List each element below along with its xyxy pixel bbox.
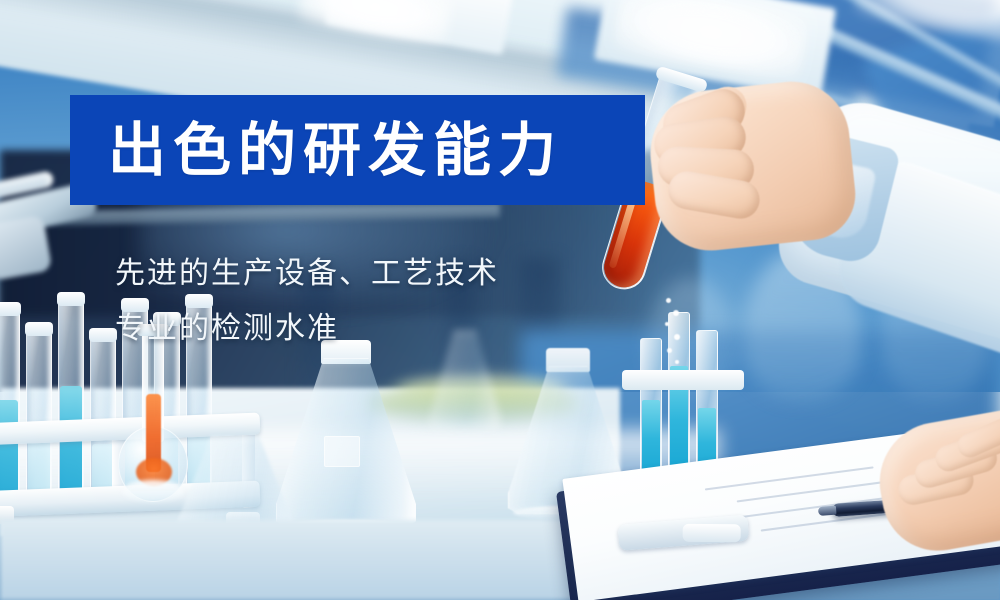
page-title: 出色的研发能力 — [70, 121, 563, 179]
subtitle-block: 先进的生产设备、工艺技术 专业的检测水准 — [115, 246, 675, 356]
subtitle-line-2: 专业的检测水准 — [115, 301, 675, 356]
desk-front-edge-left — [0, 520, 600, 600]
subtitle-line-1: 先进的生产设备、工艺技术 — [115, 246, 675, 301]
headline-band: 出色的研发能力 — [70, 95, 645, 205]
hero-banner: 出色的研发能力 先进的生产设备、工艺技术 专业的检测水准 — [0, 0, 1000, 600]
